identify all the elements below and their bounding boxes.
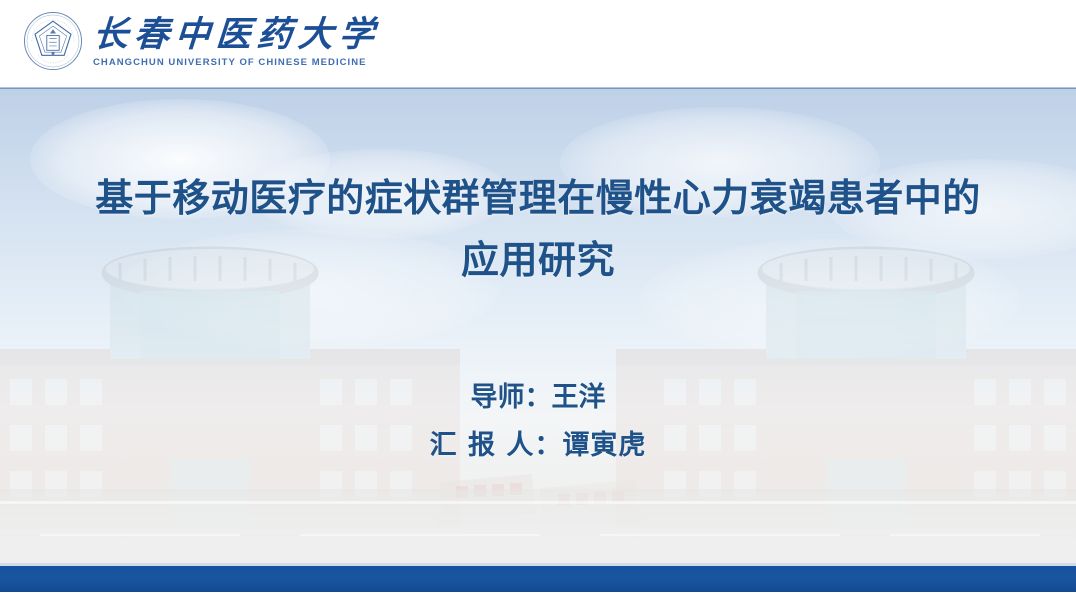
footer-white-strip — [0, 592, 1076, 600]
university-name-chinese: 长春中医药大学 — [92, 16, 382, 54]
footer-blue-bar — [0, 566, 1076, 592]
road-curb-icon — [0, 501, 1076, 504]
road-lane-marking-icon — [40, 534, 240, 536]
university-logo: 长春中医药大学 CHANGCHUN UNIVERSITY OF CHINESE … — [22, 10, 380, 72]
road-lane-marking-icon — [300, 534, 540, 536]
slide-header: 长春中医药大学 CHANGCHUN UNIVERSITY OF CHINESE … — [0, 0, 1076, 89]
slide-background-stage: 基于移动医疗的症状群管理在慢性心力衰竭患者中的 应用研究 导师：王洋 汇 报 人… — [0, 89, 1076, 600]
university-name-block: 长春中医药大学 CHANGCHUN UNIVERSITY OF CHINESE … — [93, 14, 380, 68]
road-lane-marking-icon — [890, 534, 1040, 536]
university-name-english: CHANGCHUN UNIVERSITY OF CHINESE MEDICINE — [93, 57, 380, 68]
university-seal-icon — [22, 10, 84, 72]
title-slide: 长春中医药大学 CHANGCHUN UNIVERSITY OF CHINESE … — [0, 0, 1076, 600]
road-lane-marking-icon — [600, 534, 840, 536]
